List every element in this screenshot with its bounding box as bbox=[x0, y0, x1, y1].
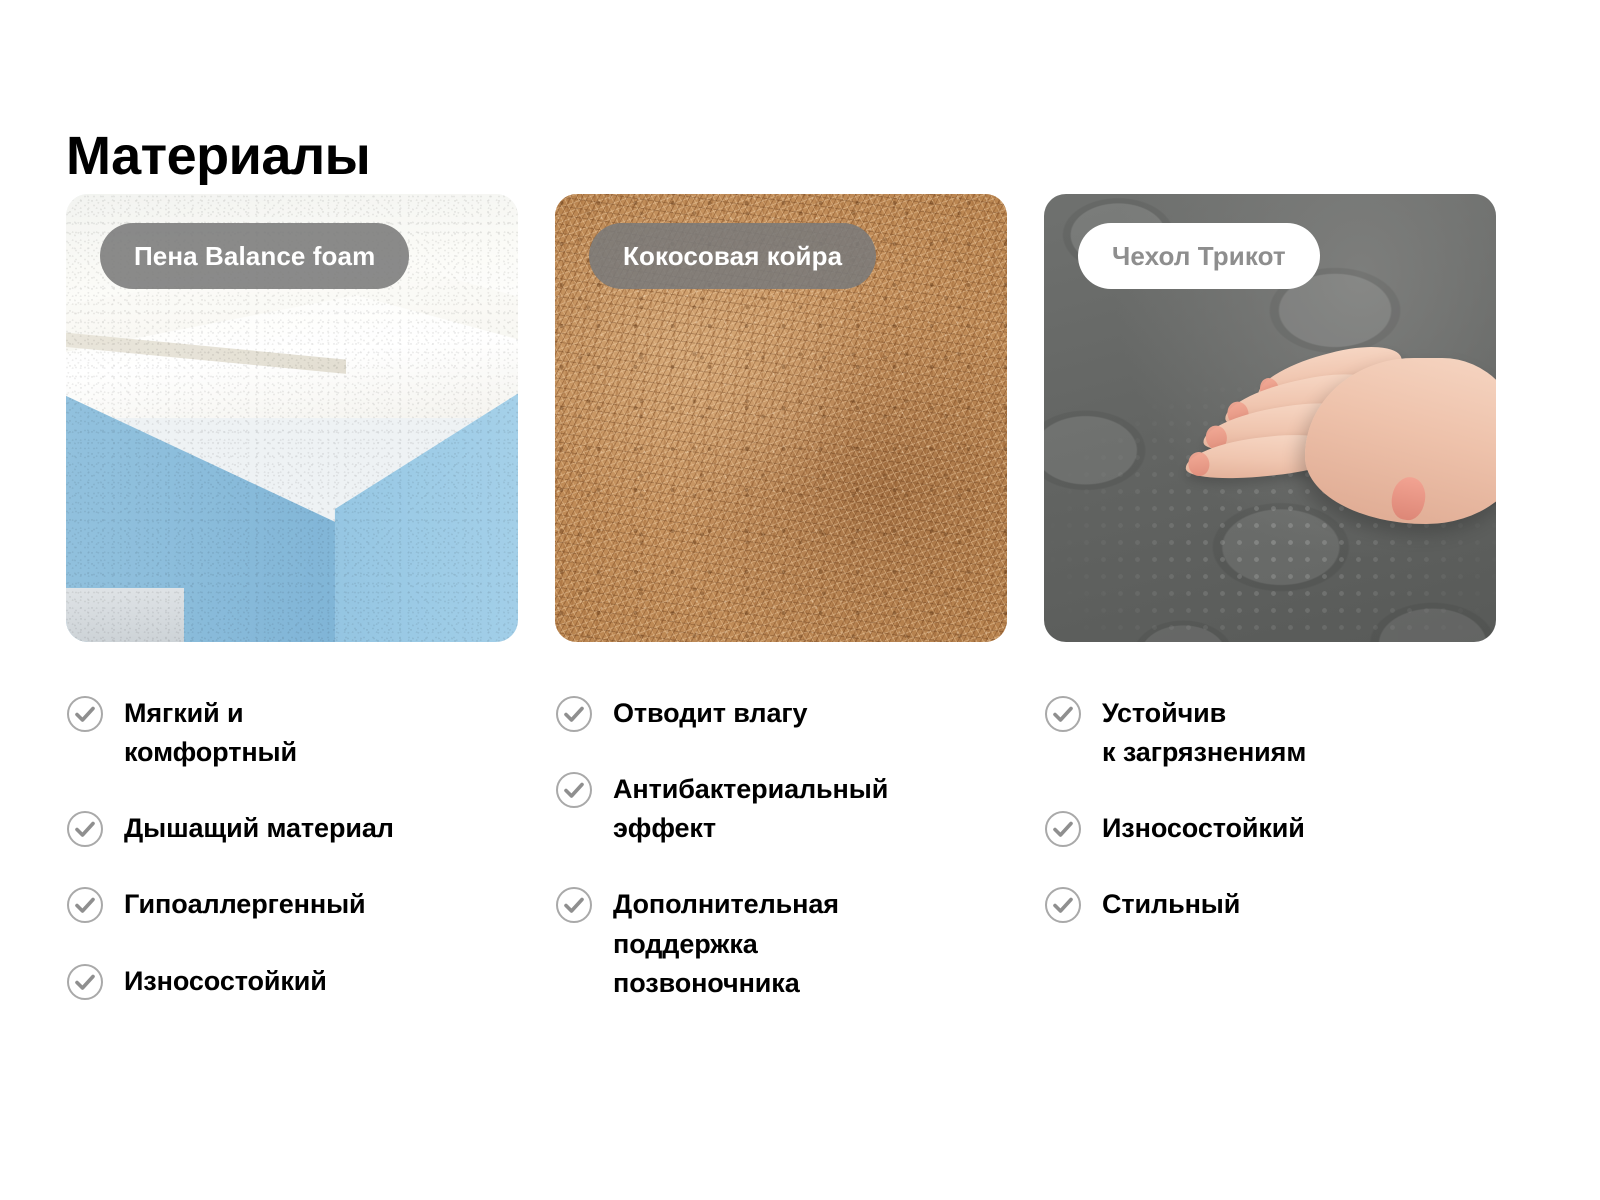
feature-column-foam: Мягкий и комфортный Дышащий материал Гип… bbox=[66, 694, 518, 1040]
check-circle-icon bbox=[66, 963, 104, 1001]
feature-label: Дополнительная поддержка позвоночника bbox=[613, 885, 839, 1002]
list-item: Стильный bbox=[1044, 885, 1496, 924]
list-item: Дополнительная поддержка позвоночника bbox=[555, 885, 1007, 1002]
feature-label: Износостойкий bbox=[124, 962, 327, 1001]
material-card-coir[interactable]: Кокосовая койра bbox=[555, 194, 1007, 642]
material-card-cover[interactable]: Чехол Трикот bbox=[1044, 194, 1496, 642]
list-item: Устойчив к загрязнениям bbox=[1044, 694, 1496, 772]
list-item: Мягкий и комфортный bbox=[66, 694, 518, 772]
list-item: Износостойкий bbox=[66, 962, 518, 1001]
list-item: Дышащий материал bbox=[66, 809, 518, 848]
check-circle-icon bbox=[1044, 695, 1082, 733]
check-circle-icon bbox=[555, 886, 593, 924]
feature-column-cover: Устойчив к загрязнениям Износостойкий Ст… bbox=[1044, 694, 1496, 1040]
feature-label: Отводит влагу bbox=[613, 694, 807, 733]
feature-label: Износостойкий bbox=[1102, 809, 1305, 848]
hand-illustration bbox=[1171, 346, 1496, 543]
list-item: Гипоаллергенный bbox=[66, 885, 518, 924]
list-item: Отводит влагу bbox=[555, 694, 1007, 733]
card-badge-cover: Чехол Трикот bbox=[1078, 223, 1320, 289]
page-title: Материалы bbox=[66, 128, 370, 185]
feature-label: Стильный bbox=[1102, 885, 1240, 924]
check-circle-icon bbox=[1044, 886, 1082, 924]
check-circle-icon bbox=[1044, 810, 1082, 848]
list-item: Износостойкий bbox=[1044, 809, 1496, 848]
feature-column-coir: Отводит влагу Антибактериальный эффект Д… bbox=[555, 694, 1007, 1040]
card-badge-coir: Кокосовая койра bbox=[589, 223, 876, 289]
check-circle-icon bbox=[66, 886, 104, 924]
feature-columns: Мягкий и комфортный Дышащий материал Гип… bbox=[66, 694, 1534, 1040]
check-circle-icon bbox=[555, 695, 593, 733]
feature-label: Устойчив к загрязнениям bbox=[1102, 694, 1306, 772]
list-item: Антибактериальный эффект bbox=[555, 770, 1007, 848]
feature-label: Мягкий и комфортный bbox=[124, 694, 297, 772]
check-circle-icon bbox=[555, 771, 593, 809]
check-circle-icon bbox=[66, 810, 104, 848]
feature-label: Дышащий материал bbox=[124, 809, 394, 848]
feature-label: Антибактериальный эффект bbox=[613, 770, 888, 848]
material-card-foam[interactable]: Пена Balance foam bbox=[66, 194, 518, 642]
card-badge-foam: Пена Balance foam bbox=[100, 223, 409, 289]
material-cards-row: Пена Balance foam Кокосовая койра Чехол … bbox=[66, 194, 1534, 644]
feature-label: Гипоаллергенный bbox=[124, 885, 366, 924]
check-circle-icon bbox=[66, 695, 104, 733]
